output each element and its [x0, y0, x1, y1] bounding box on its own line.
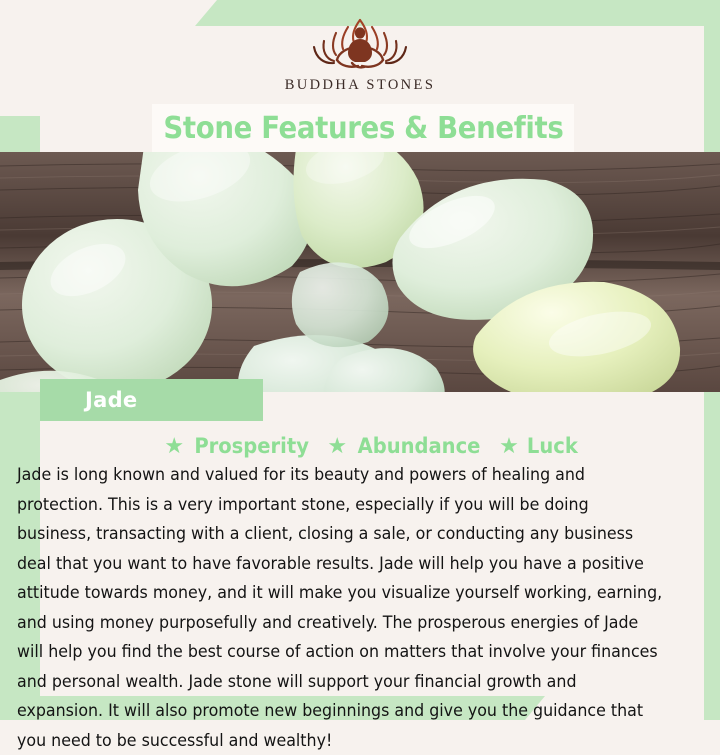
- keyword-label: Luck: [527, 434, 578, 458]
- keyword-prosperity: ★ Prosperity: [164, 434, 313, 458]
- keyword-luck: ★ Luck: [499, 434, 579, 458]
- brand-name: BUDDHA STONES: [285, 77, 436, 94]
- lotus-meditation-icon: [296, 14, 424, 76]
- star-icon: ★: [327, 435, 347, 457]
- brand-header: BUDDHA STONES: [0, 0, 720, 104]
- page-title: Stone Features & Benefits: [163, 111, 563, 146]
- keyword-label: Prosperity: [194, 434, 309, 458]
- stone-name-label: Jade: [85, 388, 137, 412]
- title-band: Stone Features & Benefits: [152, 104, 574, 152]
- keyword-label: Abundance: [358, 434, 481, 458]
- star-icon: ★: [499, 435, 519, 457]
- keyword-list: ★ Prosperity ★ Abundance ★ Luck: [40, 430, 704, 462]
- stone-description: Jade is long known and valued for its be…: [17, 460, 666, 755]
- star-icon: ★: [164, 435, 184, 457]
- keyword-abundance: ★ Abundance: [327, 434, 485, 458]
- jade-stones-photo: [0, 152, 720, 392]
